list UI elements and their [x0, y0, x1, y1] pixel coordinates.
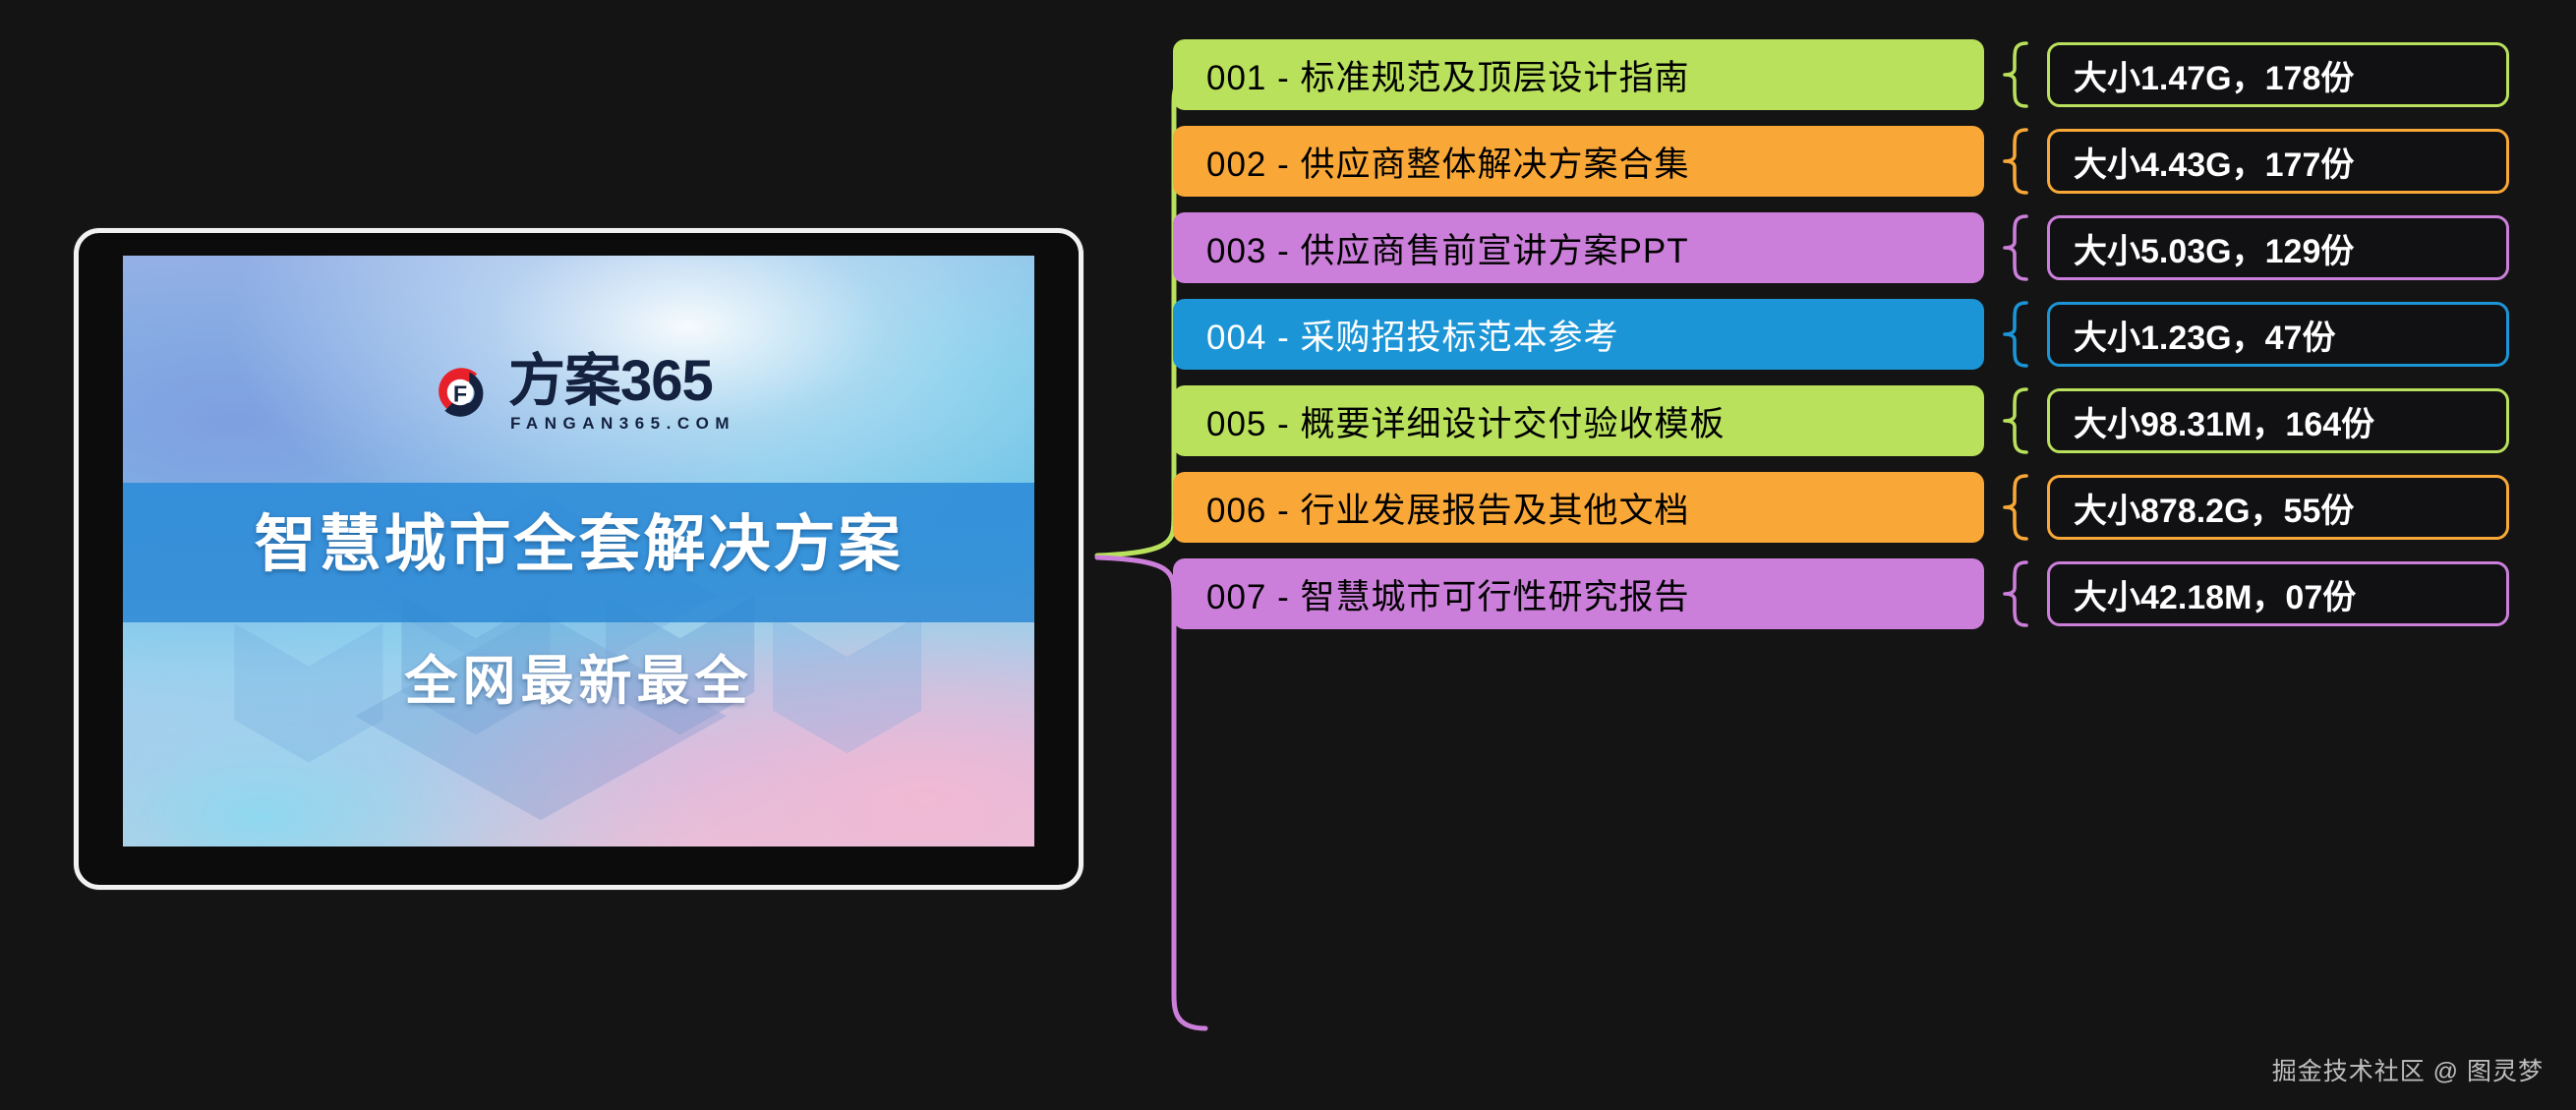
curly-brace-icon: [1994, 385, 2039, 456]
curly-brace-icon: [1994, 558, 2039, 629]
catalog-row: 007 - 智慧城市可行性研究报告大小42.18M，07份: [1173, 558, 2549, 629]
watermark: 掘金技术社区 @ 图灵梦: [2272, 1052, 2544, 1087]
catalog-rows: 001 - 标准规范及顶层设计指南大小1.47G，178份002 - 供应商整体…: [1173, 39, 2549, 1052]
fangan365-logo-icon: F: [422, 354, 498, 431]
size-badge-003: 大小5.03G，129份: [2047, 215, 2509, 280]
category-pill-003[interactable]: 003 - 供应商售前宣讲方案PPT: [1173, 212, 1984, 283]
catalog-row: 003 - 供应商售前宣讲方案PPT大小5.03G，129份: [1173, 212, 2549, 283]
size-badge-006: 大小878.2G，55份: [2047, 475, 2509, 540]
size-badge-007: 大小42.18M，07份: [2047, 561, 2509, 626]
category-pill-006[interactable]: 006 - 行业发展报告及其他文档: [1173, 472, 1984, 543]
catalog-row: 004 - 采购招投标范本参考大小1.23G，47份: [1173, 299, 2549, 370]
category-pill-004[interactable]: 004 - 采购招投标范本参考: [1173, 299, 1984, 370]
svg-text:F: F: [453, 381, 467, 407]
brand-logo: F 方案365 FANGAN365.COM: [123, 353, 1034, 432]
curly-brace-icon: [1994, 472, 2039, 543]
monitor-bezel: F 方案365 FANGAN365.COM 智慧城市全套解决方案 全网最新最全: [84, 238, 1074, 880]
curly-brace-icon: [1994, 39, 2039, 110]
curly-brace-icon: [1994, 212, 2039, 283]
poster-title: 智慧城市全套解决方案: [123, 495, 1034, 584]
size-badge-001: 大小1.47G，178份: [2047, 42, 2509, 107]
size-badge-005: 大小98.31M，164份: [2047, 388, 2509, 453]
category-pill-007[interactable]: 007 - 智慧城市可行性研究报告: [1173, 558, 1984, 629]
catalog-row: 005 - 概要详细设计交付验收模板大小98.31M，164份: [1173, 385, 2549, 456]
monitor-frame: F 方案365 FANGAN365.COM 智慧城市全套解决方案 全网最新最全: [74, 228, 1083, 890]
brand-logo-text: 方案365 FANGAN365.COM: [508, 353, 735, 432]
category-pill-001[interactable]: 001 - 标准规范及顶层设计指南: [1173, 39, 1984, 110]
brand-domain: FANGAN365.COM: [508, 415, 735, 432]
poster-subtitle: 全网最新最全: [123, 637, 1034, 715]
brand-name: 方案365: [508, 353, 713, 410]
catalog-row: 002 - 供应商整体解决方案合集大小4.43G，177份: [1173, 126, 2549, 197]
curly-brace-icon: [1994, 299, 2039, 370]
catalog-row: 006 - 行业发展报告及其他文档大小878.2G，55份: [1173, 472, 2549, 543]
size-badge-004: 大小1.23G，47份: [2047, 302, 2509, 367]
category-pill-002[interactable]: 002 - 供应商整体解决方案合集: [1173, 126, 1984, 197]
catalog-infographic: F 方案365 FANGAN365.COM 智慧城市全套解决方案 全网最新最全 …: [0, 0, 2576, 1110]
poster-image: F 方案365 FANGAN365.COM 智慧城市全套解决方案 全网最新最全: [123, 256, 1034, 847]
category-pill-005[interactable]: 005 - 概要详细设计交付验收模板: [1173, 385, 1984, 456]
size-badge-002: 大小4.43G，177份: [2047, 129, 2509, 194]
monitor-preview: F 方案365 FANGAN365.COM 智慧城市全套解决方案 全网最新最全: [74, 228, 1083, 890]
catalog-row: 001 - 标准规范及顶层设计指南大小1.47G，178份: [1173, 39, 2549, 110]
curly-brace-icon: [1994, 126, 2039, 197]
